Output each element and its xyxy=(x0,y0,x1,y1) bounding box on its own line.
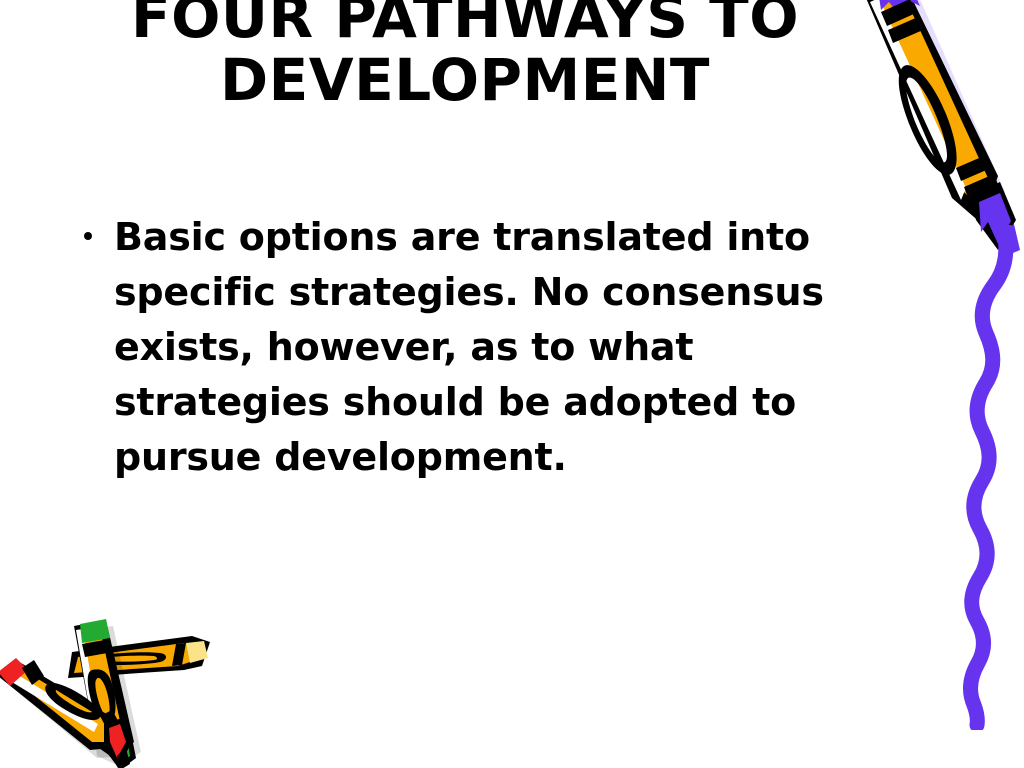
purple-squiggle-stroke xyxy=(946,225,1024,730)
bullet-dot-icon xyxy=(84,210,114,240)
slide-canvas: FOUR PATHWAYS TO DEVELOPMENT Basic optio… xyxy=(0,0,1024,768)
crayons-icon-bottom-left xyxy=(0,600,236,768)
page-title: FOUR PATHWAYS TO DEVELOPMENT xyxy=(0,0,930,112)
body-content: Basic options are translated into specif… xyxy=(84,210,914,485)
bullet-text: Basic options are translated into specif… xyxy=(114,210,914,485)
list-item: Basic options are translated into specif… xyxy=(84,210,914,485)
